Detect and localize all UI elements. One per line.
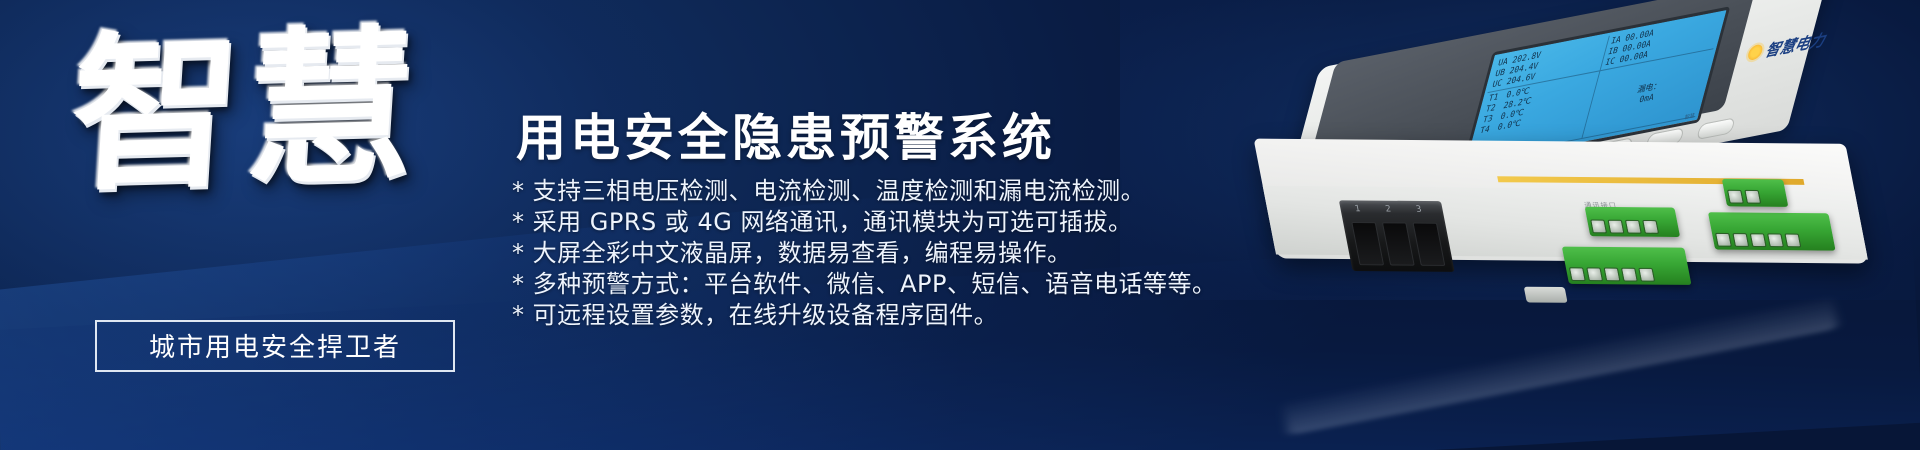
list-item: * 支持三相电压检测、电流检测、温度检测和漏电流检测。 bbox=[512, 176, 1232, 207]
terminal-screw bbox=[1732, 233, 1749, 247]
terminal-block-left bbox=[1562, 247, 1692, 285]
list-item: * 多种预警方式：平台软件、微信、APP、短信、语音电话等等。 bbox=[512, 269, 1232, 300]
terminal-screw bbox=[1621, 268, 1638, 282]
terminal-screw bbox=[1586, 267, 1603, 281]
terminal-screw bbox=[1715, 233, 1732, 247]
terminal-screw bbox=[1607, 220, 1624, 234]
list-item: * 大屏全彩中文液晶屏，数据易查看，编程易操作。 bbox=[512, 238, 1232, 269]
page-title: 用电安全隐患预警系统 bbox=[516, 98, 1056, 170]
connector-pin-2 bbox=[1382, 222, 1415, 265]
terminal-block-far-right bbox=[1722, 179, 1789, 207]
list-item: * 采用 GPRS 或 4G 网络通讯，通讯模块为可选可插拔。 bbox=[512, 207, 1232, 238]
terminal-screw bbox=[1604, 268, 1621, 282]
calligraphy-block: 智慧 bbox=[72, 26, 472, 276]
connector-number-2: 2 bbox=[1385, 205, 1392, 215]
terminal-screw bbox=[1642, 220, 1659, 234]
terminal-screw bbox=[1744, 190, 1761, 204]
connector-number-1: 1 bbox=[1354, 204, 1361, 214]
calligraphy-text: 智慧 bbox=[66, 21, 477, 199]
terminal-block-comm bbox=[1585, 207, 1681, 237]
list-item: * 可远程设置参数，在线升级设备程序固件。 bbox=[512, 300, 1232, 331]
terminal-screw bbox=[1784, 234, 1801, 248]
din-rail-monitor-device: UA 202.8V UB 204.4V UC 204.6V IA 00.00A … bbox=[1224, 0, 1896, 406]
terminal-screw bbox=[1750, 233, 1767, 247]
terminal-screw bbox=[1638, 268, 1655, 282]
terminal-screw bbox=[1727, 190, 1744, 204]
terminal-screw bbox=[1625, 220, 1642, 234]
connector-number-3: 3 bbox=[1415, 205, 1422, 215]
tagline-text: 城市用电安全捍卫者 bbox=[149, 327, 401, 364]
device-power-connector: 1 2 3 bbox=[1339, 200, 1455, 272]
device-brand-text: 智慧电力 bbox=[1763, 27, 1828, 61]
connector-pin-1 bbox=[1351, 222, 1384, 265]
tagline-box: 城市用电安全捍卫者 bbox=[95, 320, 455, 372]
connector-pin-3 bbox=[1412, 223, 1445, 266]
device-din-clip bbox=[1524, 287, 1568, 303]
terminal-screw bbox=[1590, 220, 1607, 234]
feature-list: * 支持三相电压检测、电流检测、温度检测和漏电流检测。 * 采用 GPRS 或 … bbox=[512, 176, 1232, 331]
terminal-screw bbox=[1569, 267, 1586, 281]
lcd-leakage-value: 0mA bbox=[1638, 92, 1655, 106]
terminal-block-right bbox=[1708, 212, 1836, 250]
lcd-brand-mark: 智慧 bbox=[1684, 112, 1696, 121]
product-image: UA 202.8V UB 204.4V UC 204.6V IA 00.00A … bbox=[1160, 0, 1920, 450]
promo-banner: 智慧 城市用电安全捍卫者 用电安全隐患预警系统 * 支持三相电压检测、电流检测、… bbox=[0, 0, 1920, 450]
terminal-screw bbox=[1767, 233, 1784, 247]
